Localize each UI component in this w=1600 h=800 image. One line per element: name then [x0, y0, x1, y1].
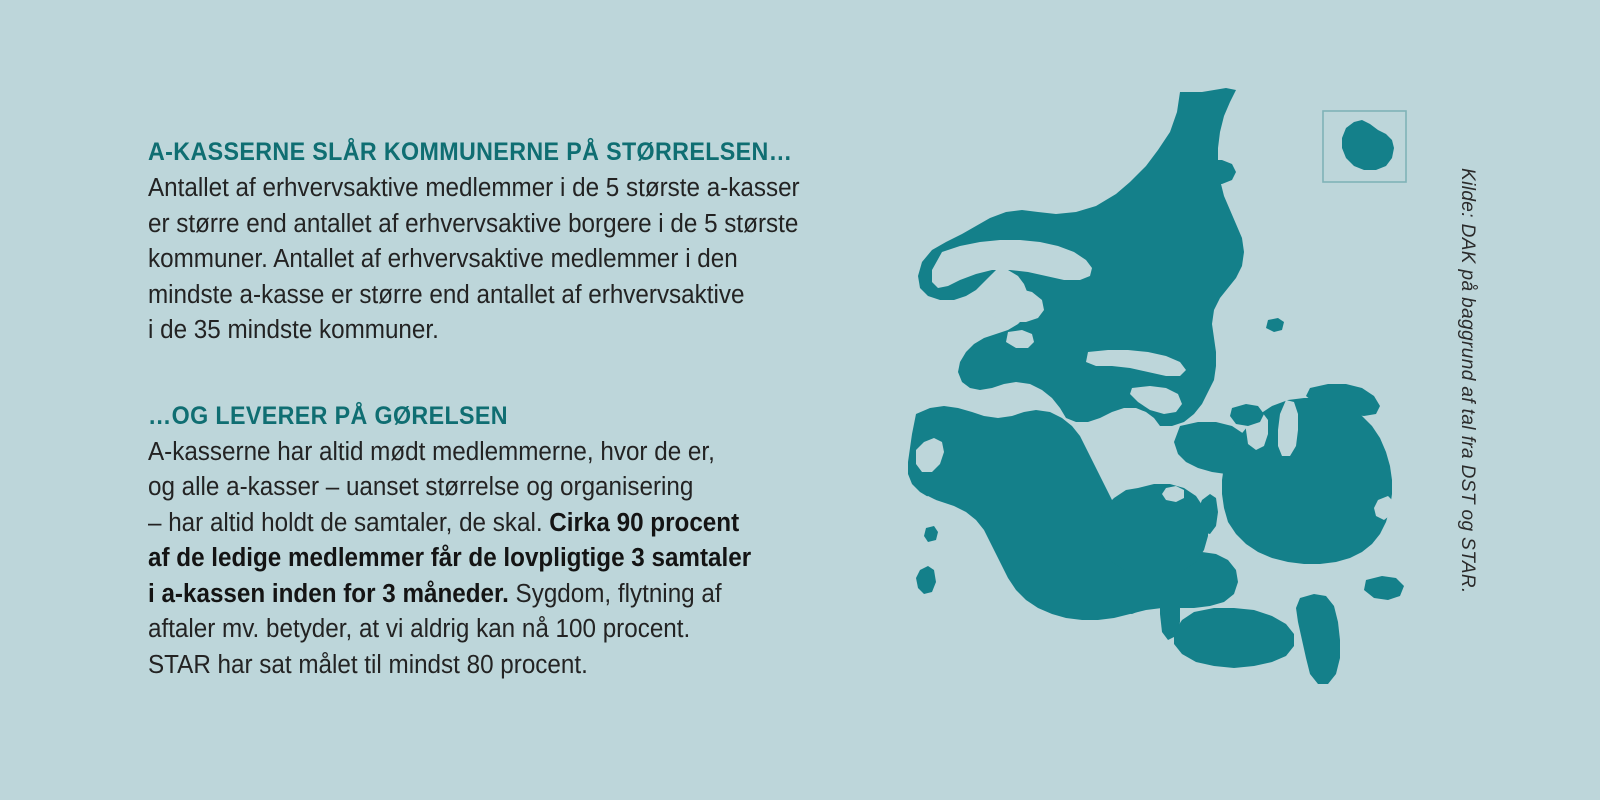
infographic-canvas: A-KASSERNE SLÅR KOMMUNERNE PÅ STØRRELSEN… — [0, 0, 1600, 800]
map-island-falster — [1296, 594, 1340, 684]
map-island-lolland — [1174, 608, 1294, 668]
denmark-map — [880, 70, 1480, 710]
block-1-line-4: mindste a-kasse er større end antallet a… — [148, 281, 744, 309]
map-island-bornholm — [1342, 120, 1394, 170]
map-island-anholt — [1266, 318, 1284, 332]
text-block-1: A-KASSERNE SLÅR KOMMUNERNE PÅ STØRRELSEN… — [148, 138, 908, 349]
block-2-heading: …OG LEVERER PÅ GØRELSEN — [148, 402, 855, 430]
block-2-line-1: A-kasserne har altid mødt medlemmerne, h… — [148, 438, 715, 466]
block-2-emphasis-2: af de ledige medlemmer får de lovpligtig… — [148, 544, 751, 572]
map-island-romo — [916, 566, 936, 594]
block-2-line-3: – har altid holdt de samtaler, de skal. — [148, 509, 543, 537]
block-2-body: A-kasserne har altid mødt medlemmerne, h… — [148, 435, 870, 684]
map-water-limfjord-3 — [936, 302, 976, 328]
map-island-fano — [924, 526, 938, 542]
block-2-line-6: STAR har sat målet til mindst 80 procent… — [148, 651, 588, 679]
map-water-ho-bugt — [930, 538, 952, 560]
map-island-mon — [1364, 576, 1404, 600]
block-2-emphasis-3: i a-kassen inden for 3 måneder. — [148, 580, 509, 608]
block-2-line-2: og alle a-kasser – uanset størrelse og o… — [148, 473, 693, 501]
block-1-line-2: er større end antallet af erhvervsaktive… — [148, 210, 798, 238]
block-2-line-5: aftaler mv. betyder, at vi aldrig kan nå… — [148, 615, 690, 643]
block-1-heading: A-KASSERNE SLÅR KOMMUNERNE PÅ STØRRELSEN… — [148, 138, 855, 166]
block-1-line-3: kommuner. Antallet af erhvervsaktive med… — [148, 245, 738, 273]
block-1-line-1: Antallet af erhvervsaktive medlemmer i d… — [148, 174, 800, 202]
map-region-funen — [1100, 484, 1208, 578]
block-1-line-5: i de 35 mindste kommuner. — [148, 316, 439, 344]
text-block-2: …OG LEVERER PÅ GØRELSEN A-kasserne har a… — [148, 402, 908, 684]
block-2-line-4: Sygdom, flytning af — [509, 580, 722, 608]
block-1-body: Antallet af erhvervsaktive medlemmer i d… — [148, 171, 870, 349]
block-2-emphasis-1: Cirka 90 procent — [549, 509, 739, 537]
text-column: A-KASSERNE SLÅR KOMMUNERNE PÅ STØRRELSEN… — [148, 138, 908, 683]
